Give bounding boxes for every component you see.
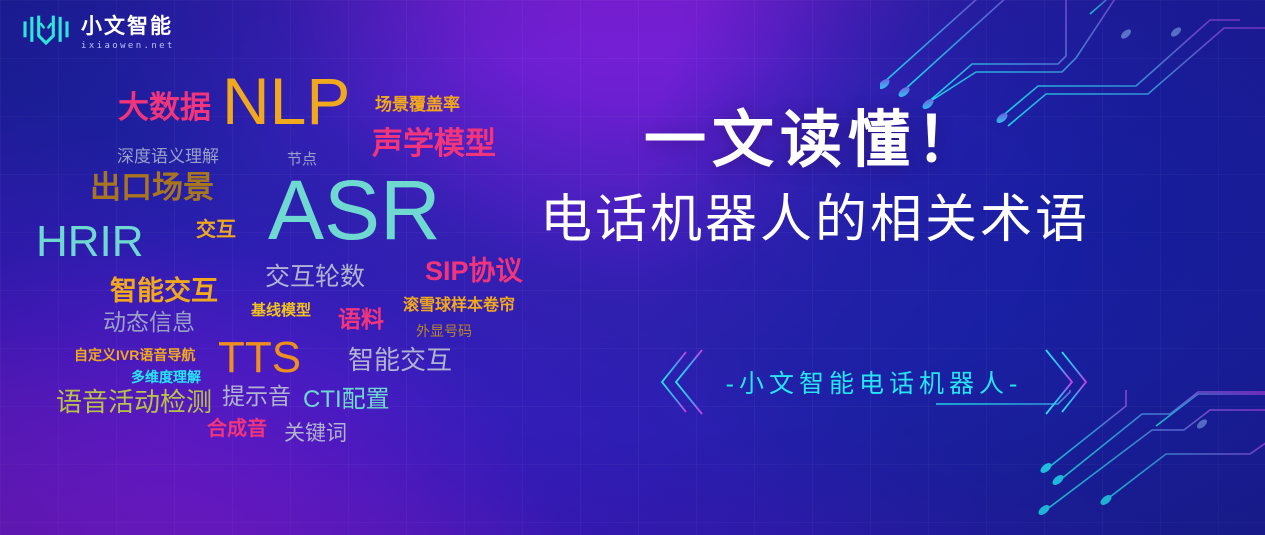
word-cloud-term: 深度语义理解 [117,148,219,165]
word-cloud-term: HRIR [36,220,144,264]
word-cloud-term: 自定义IVR语音导航 [74,348,195,362]
word-cloud-term: 动态信息 [103,311,195,334]
word-cloud-term: 关键词 [284,423,347,444]
promo-banner: 小文智能 ixiaowen.net 大数据NLP场景覆盖率声学模型深度语义理解节… [0,0,1265,535]
word-cloud-term: 提示音 [222,385,291,408]
word-cloud-term: 合成音 [207,419,267,439]
word-cloud-term: 多维度理解 [131,370,201,384]
word-cloud-term: 场景覆盖率 [375,96,460,113]
word-cloud-term: 语音活动检测 [56,389,212,415]
word-cloud-term: 出口场景 [90,172,214,203]
headline-block: 一文读懂！ 电话机器人的相关术语 [540,110,1260,246]
xiaowen-w-logo-icon [22,12,70,54]
tagline-label: -小文智能电话机器人- [650,348,1098,416]
word-cloud-term: 智能交互 [110,278,218,305]
word-cloud-term: 大数据 [118,92,211,123]
word-cloud-term: 交互轮数 [265,265,365,290]
tagline-badge: -小文智能电话机器人- [650,348,1098,416]
word-cloud-term: 基线模型 [251,303,311,318]
word-cloud-term: 声学模型 [372,128,496,159]
word-cloud: 大数据NLP场景覆盖率声学模型深度语义理解节点出口场景ASRHRIR交互交互轮数… [0,60,560,460]
brand-name-cn: 小文智能 [81,16,175,37]
word-cloud-term: ASR [268,168,441,252]
brand-logo-text: 小文智能 ixiaowen.net [81,16,175,51]
word-cloud-term: CTI配置 [303,388,390,412]
brand-domain: ixiaowen.net [81,42,175,51]
word-cloud-term: NLP [222,68,350,134]
word-cloud-term: SIP协议 [425,258,523,285]
word-cloud-term: 交互 [196,220,236,240]
word-cloud-term: 滚雪球样本卷帘 [403,298,515,314]
page-title: 一文读懂！ [644,110,1260,172]
page-subtitle: 电话机器人的相关术语 [540,194,1260,246]
brand-logo[interactable]: 小文智能 ixiaowen.net [22,12,175,54]
word-cloud-term: TTS [218,336,301,380]
word-cloud-term: 语料 [338,308,384,331]
word-cloud-term: 智能交互 [348,347,452,373]
word-cloud-term: 外显号码 [416,324,472,338]
